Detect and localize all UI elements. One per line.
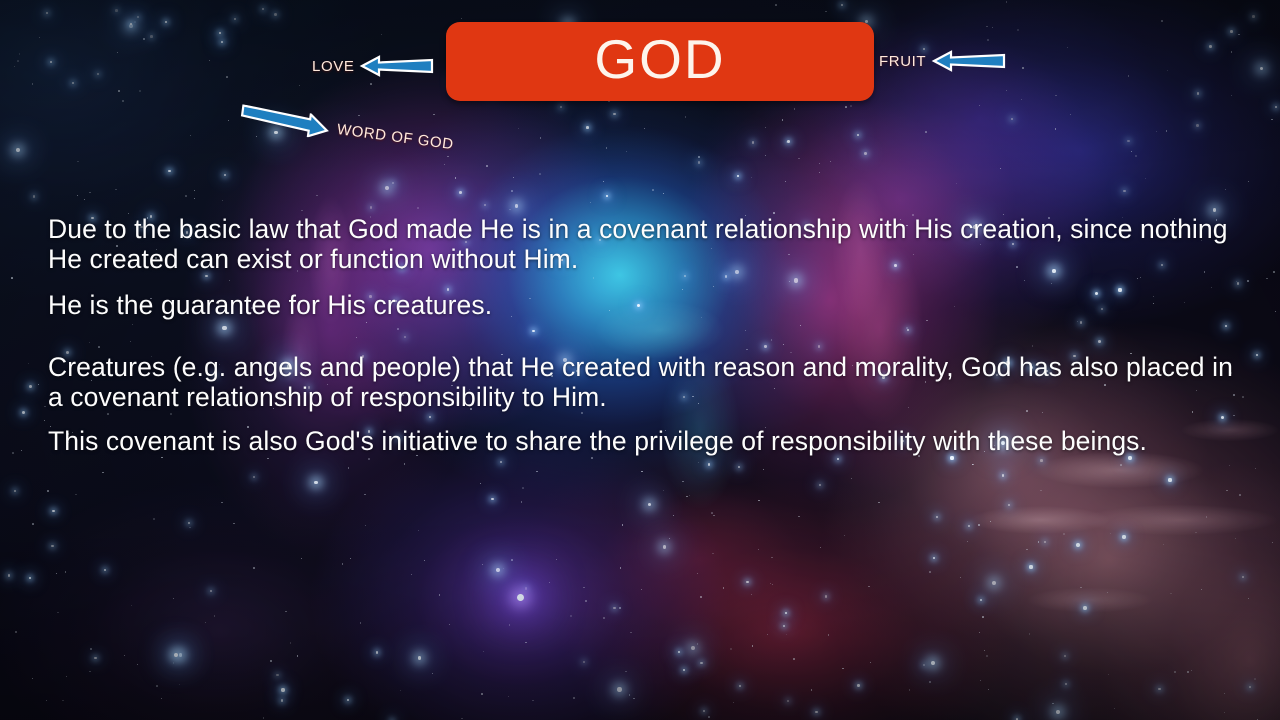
body-paragraph-3: Creatures (e.g. angels and people) that … <box>48 352 1240 412</box>
star <box>663 545 666 548</box>
arrow-left-icon <box>931 50 1007 72</box>
star-bright <box>1083 606 1087 610</box>
star <box>1213 208 1217 212</box>
star-bright <box>174 653 178 657</box>
arrow-left-icon <box>359 55 435 77</box>
covenant-diagram: GOD LOVE FRUIT <box>0 0 1280 180</box>
star-bright <box>606 195 609 198</box>
star-bright <box>29 577 32 580</box>
caption-love-label: LOVE <box>312 58 354 75</box>
caption-love: LOVE <box>312 55 435 77</box>
star-bright <box>950 456 953 459</box>
slide-body-text: Due to the basic law that God made He is… <box>48 214 1240 456</box>
body-paragraph-1: Due to the basic law that God made He is… <box>48 214 1240 274</box>
star <box>1056 710 1060 714</box>
star <box>314 481 318 485</box>
caption-fruit: FRUIT <box>879 50 1007 72</box>
god-label: GOD <box>594 32 725 87</box>
star <box>648 503 651 506</box>
star-bright <box>347 699 350 702</box>
star <box>179 653 183 657</box>
star <box>691 646 696 651</box>
body-paragraph-4: This covenant is also God's initiative t… <box>48 426 1240 456</box>
body-paragraph-2: He is the guarantee for His creatures. <box>48 290 1240 320</box>
star-bright <box>517 594 524 601</box>
star-bright <box>785 612 788 615</box>
star <box>496 568 500 572</box>
star-bright <box>281 688 284 691</box>
star <box>931 661 935 665</box>
star-bright <box>1029 565 1032 568</box>
star-bright <box>1128 456 1131 459</box>
star-bright <box>1168 478 1171 481</box>
slide-canvas: GOD LOVE FRUIT <box>0 0 1280 720</box>
caption-fruit-label: FRUIT <box>879 53 926 70</box>
star <box>617 687 622 692</box>
star-bright <box>1076 543 1080 547</box>
star-bright <box>678 651 681 654</box>
star-bright <box>1122 535 1125 538</box>
star <box>992 581 996 585</box>
star <box>385 186 390 191</box>
star-bright <box>683 669 686 672</box>
god-center-box: GOD <box>446 22 874 101</box>
star <box>418 656 421 659</box>
star <box>515 204 519 208</box>
